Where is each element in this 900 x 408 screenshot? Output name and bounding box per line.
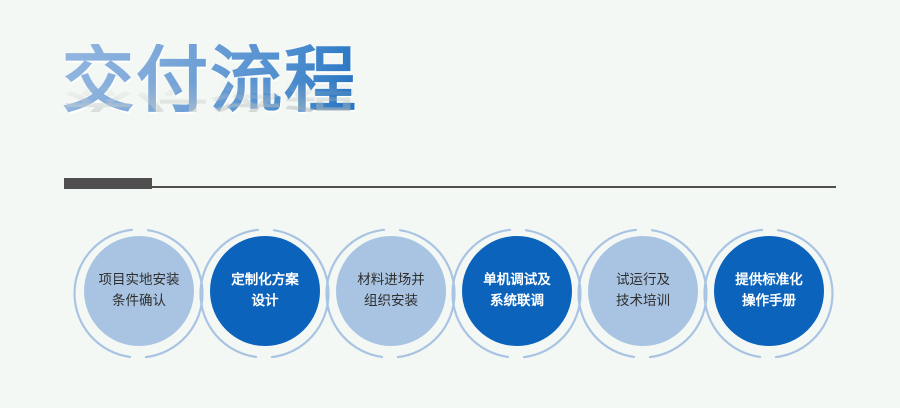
process-step-bubble-4[interactable]: 单机调试及系统联调	[462, 236, 572, 346]
process-step-label: 条件确认	[112, 291, 166, 312]
process-step-6[interactable]: 提供标准化操作手册	[694, 222, 844, 372]
process-step-label: 试运行及	[616, 270, 670, 291]
process-step-bubble-1[interactable]: 项目实地安装条件确认	[84, 236, 194, 346]
delivery-process-flow: 项目实地安装条件确认定制化方案设计材料进场并组织安装单机调试及系统联调试运行及技…	[0, 222, 900, 372]
process-step-bubble-3[interactable]: 材料进场并组织安装	[336, 236, 446, 346]
process-step-label: 技术培训	[616, 291, 670, 312]
section-divider	[64, 178, 836, 190]
process-step-label: 单机调试及	[483, 270, 551, 291]
process-step-label: 定制化方案	[231, 270, 299, 291]
divider-line	[64, 186, 836, 188]
process-step-label: 系统联调	[490, 291, 544, 312]
process-step-label: 操作手册	[742, 291, 796, 312]
process-step-label: 设计	[252, 291, 279, 312]
page-title-block: 交付流程 交付流程	[62, 44, 482, 164]
process-step-label: 提供标准化	[735, 270, 803, 291]
process-step-label: 组织安装	[364, 291, 418, 312]
process-step-bubble-2[interactable]: 定制化方案设计	[210, 236, 320, 346]
divider-accent-block	[64, 178, 152, 189]
process-step-label: 项目实地安装	[99, 270, 180, 291]
process-step-label: 材料进场并	[357, 270, 425, 291]
page-title-reflection: 交付流程	[62, 72, 482, 112]
process-step-bubble-5[interactable]: 试运行及技术培训	[588, 236, 698, 346]
process-step-bubble-6[interactable]: 提供标准化操作手册	[714, 236, 824, 346]
